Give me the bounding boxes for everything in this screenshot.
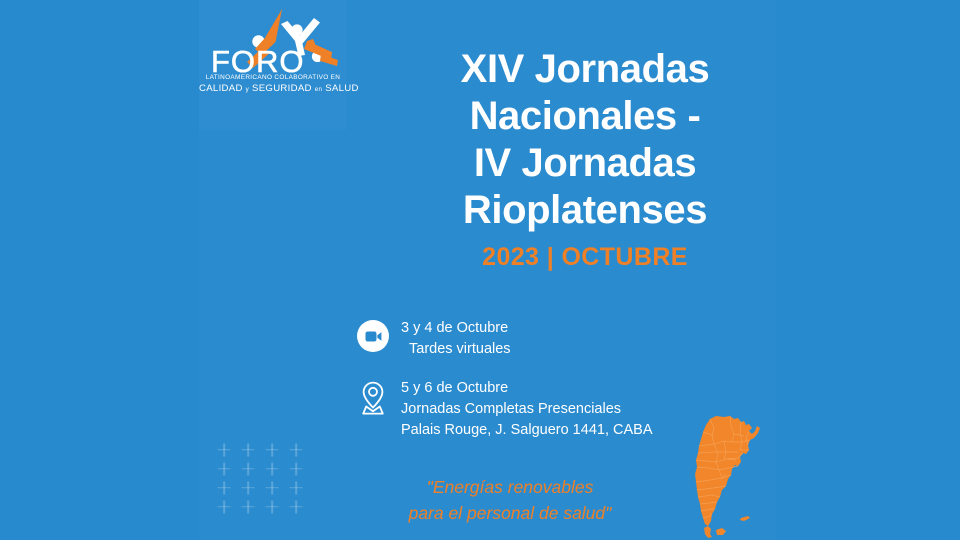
title-line-1: XIV Jornadas [390,46,780,93]
logo-sub-salud: SALUD [325,83,359,94]
cross-icon [212,440,236,459]
logo-subtitle-line2: CALIDAD y SEGURIDAD en SALUD [199,83,347,94]
logo-sub-en: en [315,86,322,93]
cross-icon [236,459,260,478]
cross-icon [212,497,236,516]
cross-icon [212,478,236,497]
event-poster: FORO LATINOAMERICANO COLABORATIVO EN CAL… [0,0,960,540]
info-block-virtual: 3 y 4 de Octubre Tardes virtuales [357,318,511,360]
venue-address: Palais Rouge, J. Salguero 1441, CABA [401,420,652,441]
logo-sub-calidad: CALIDAD [199,83,243,94]
tagline-line-2: para el personal de salud" [380,500,640,526]
cross-icon [284,497,308,516]
venue-dates: 5 y 6 de Octubre [401,378,652,399]
tagline-line-1: "Energías renovables [380,474,640,500]
cross-icon [260,440,284,459]
cross-icon [260,459,284,478]
cross-icon [212,459,236,478]
page-title: XIV Jornadas Nacionales - IV Jornadas Ri… [390,46,780,234]
title-line-4: Rioplatenses [390,187,780,234]
cross-icon [284,459,308,478]
video-camera-icon [357,320,389,352]
cross-icon [236,440,260,459]
info-block-venue: 5 y 6 de Octubre Jornadas Completas Pres… [357,378,652,441]
cross-icon [236,497,260,516]
cross-icon [284,478,308,497]
cross-icon [260,497,284,516]
map-pin-icon [357,380,389,416]
foro-logo: FORO LATINOAMERICANO COLABORATIVO EN CAL… [199,0,347,130]
tagline: "Energías renovables para el personal de… [380,474,640,526]
cross-icon [260,478,284,497]
argentina-map-icon [686,414,768,540]
venue-description: Jornadas Completas Presenciales [401,399,652,420]
cross-icon [284,440,308,459]
virtual-description: Tardes virtuales [401,339,511,360]
cross-pattern-decoration [212,440,308,516]
date-banner: 2023 | OCTUBRE [390,243,780,272]
virtual-dates: 3 y 4 de Octubre [401,318,511,339]
info-virtual-text: 3 y 4 de Octubre Tardes virtuales [401,318,511,360]
title-line-3: IV Jornadas [390,140,780,187]
logo-sub-seguridad: SEGURIDAD [252,83,312,94]
info-venue-text: 5 y 6 de Octubre Jornadas Completas Pres… [401,378,652,441]
cross-icon [236,478,260,497]
logo-sub-y: y [246,86,249,93]
logo-subtitle-line1: LATINOAMERICANO COLABORATIVO EN [199,74,347,81]
title-line-2: Nacionales - [390,93,780,140]
